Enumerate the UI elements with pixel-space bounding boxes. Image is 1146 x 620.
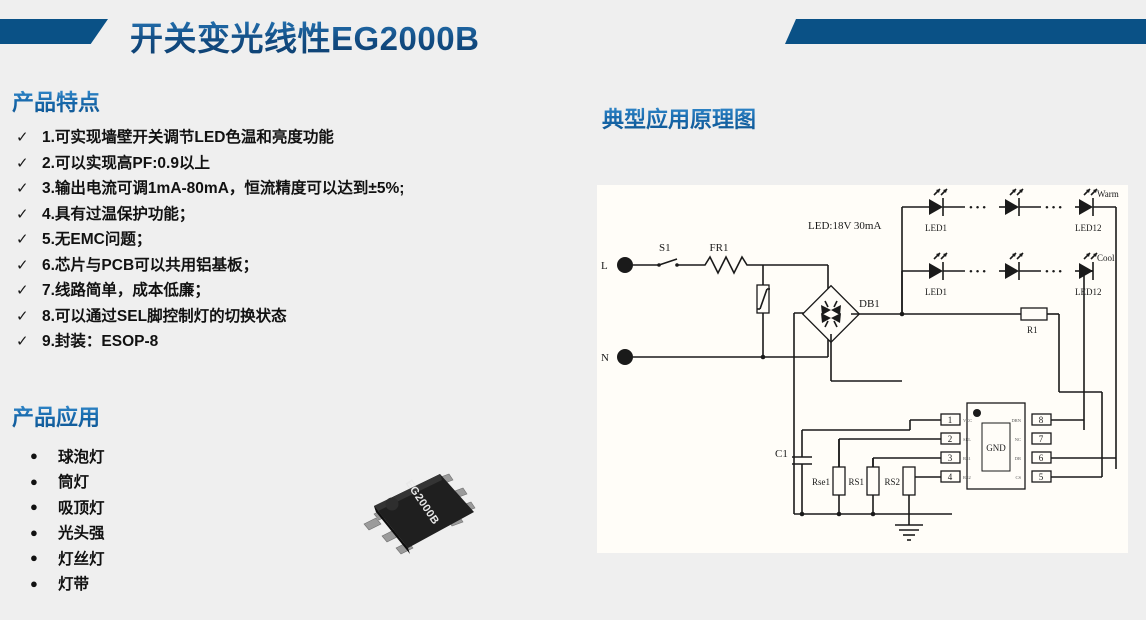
feature-list: ✓ 1.可实现墙壁开关调节LED色温和亮度功能 ✓ 2.可以实现高PF:0.9以… (14, 125, 574, 355)
check-icon: ✓ (14, 179, 42, 197)
resistor-rs2: RS2 (884, 467, 915, 514)
application-item: ● 吸顶灯 (30, 494, 270, 520)
ellipsis-warm-2: • • • (1045, 202, 1062, 214)
header-bar-right-decoration (785, 19, 1146, 44)
ic-pin1-function-label: VCC (963, 418, 972, 423)
feature-item: ✓ 1.可实现墙壁开关调节LED色温和亮度功能 (14, 125, 574, 151)
resistor-rs1-label: RS1 (848, 477, 864, 487)
feature-item: ✓ 7.线路简单，成本低廉； (14, 278, 574, 304)
ellipsis-cool-2: • • • (1045, 266, 1062, 278)
ic-pin-7-number: 7 (1039, 434, 1044, 444)
led-warm-mid (999, 189, 1041, 216)
feature-item-label: 2.可以实现高PF:0.9以上 (42, 151, 210, 173)
ic-pin-3-number: 3 (948, 453, 953, 463)
ellipsis-cool-1: • • • (969, 266, 986, 278)
ic-pin5-function-label: CS (1015, 475, 1021, 480)
feature-item-label: 6.芯片与PCB可以共用铝基板； (42, 253, 258, 275)
resistor-r1-label: R1 (1027, 325, 1038, 335)
feature-item: ✓ 8.可以通过SEL脚控制灯的切换状态 (14, 304, 574, 330)
led-warm-1 (929, 189, 965, 216)
feature-item: ✓ 4.具有过温保护功能； (14, 202, 574, 228)
led-cool-last (1075, 253, 1097, 280)
ic-pin6-function-label: DR (1015, 456, 1021, 461)
application-item: ● 灯带 (30, 571, 270, 597)
varistor-component (757, 265, 770, 359)
application-item-label: 光头强 (58, 521, 105, 543)
application-item-label: 灯丝灯 (58, 547, 105, 569)
ic-pin2-function-label: SEL (963, 437, 971, 442)
resistor-rse1: Rse1 (812, 439, 845, 516)
feature-item-label: 7.线路简单，成本低廉； (42, 278, 210, 300)
schematic-panel: .w { stroke:#1a1a1a; stroke-width:1.6; f… (597, 185, 1128, 553)
application-item: ● 筒灯 (30, 469, 270, 495)
ic-pin8-function-label: DRN (1011, 418, 1021, 423)
feature-item: ✓ 2.可以实现高PF:0.9以上 (14, 151, 574, 177)
feature-item: ✓ 5.无EMC问题； (14, 227, 574, 253)
check-icon: ✓ (14, 154, 42, 172)
page-header: 开关变光线性EG2000B (0, 0, 1146, 68)
section-heading-features: 产品特点 (12, 85, 100, 117)
check-icon: ✓ (14, 230, 42, 248)
ic-pin7-function-label: NC (1015, 437, 1021, 442)
bottom-components: C1 Rse1 RS1 (775, 430, 952, 540)
switch-s1: S1 (657, 242, 695, 267)
schematic-diagram: .w { stroke:#1a1a1a; stroke-width:1.6; f… (597, 185, 1128, 553)
application-item: ● 球泡灯 (30, 443, 270, 469)
ic-pin-2-number: 2 (948, 434, 953, 444)
feature-item-label: 3.输出电流可调1mA-80mA，恒流精度可以达到±5%; (42, 176, 404, 198)
feature-item-label: 8.可以通过SEL脚控制灯的切换状态 (42, 304, 287, 326)
feature-item-label: 5.无EMC问题； (42, 227, 151, 249)
check-icon: ✓ (14, 307, 42, 325)
led-cool-mid (999, 253, 1041, 280)
header-bar-left-decoration (0, 19, 108, 44)
feature-item: ✓ 9.封装：ESOP-8 (14, 329, 574, 355)
ic-pin-5-number: 5 (1039, 472, 1044, 482)
bullet-icon: ● (30, 500, 58, 513)
bullet-icon: ● (30, 551, 58, 564)
led-warm-last-label: LED12 (1075, 223, 1102, 233)
ic-pin1-marker-dot (973, 409, 981, 417)
application-item: ● 光头强 (30, 520, 270, 546)
application-item: ● 灯丝灯 (30, 545, 270, 571)
bullet-icon: ● (30, 577, 58, 590)
check-icon: ✓ (14, 128, 42, 146)
switch-s1-label: S1 (659, 242, 671, 254)
feature-item-label: 4.具有过温保护功能； (42, 202, 194, 224)
ic-pins-right: 8 7 6 5 DRN NC DR CS (1011, 392, 1116, 482)
ellipsis-warm-1: • • • (969, 202, 986, 214)
terminal-live-dot (617, 257, 633, 273)
feature-item: ✓ 3.输出电流可调1mA-80mA，恒流精度可以达到±5%; (14, 176, 574, 202)
bridge-input-wires (763, 265, 828, 445)
feature-item-label: 9.封装：ESOP-8 (42, 329, 158, 351)
led-cool-last-label: LED12 (1075, 287, 1102, 297)
ic-pin3-function-label: RS1 (963, 456, 971, 461)
channel-cool-label: Cool (1097, 253, 1115, 263)
check-icon: ✓ (14, 281, 42, 299)
bullet-icon: ● (30, 475, 58, 488)
resistor-rse1-label: Rse1 (812, 477, 830, 487)
terminal-neutral-dot (617, 349, 633, 365)
ic-center-label: GND (986, 443, 1006, 453)
fuse-resistor-fr1-label: FR1 (710, 242, 729, 254)
ic-pin-4-number: 4 (948, 472, 953, 482)
channel-warm-label: Warm (1097, 189, 1119, 199)
check-icon: ✓ (14, 332, 42, 350)
page-title: 开关变光线性EG2000B (130, 12, 479, 60)
chip-package-photo: EG2000B (352, 462, 482, 567)
terminal-live-label: L (601, 260, 608, 272)
led-cool-first-label: LED1 (925, 287, 947, 297)
ic-pin-1-number: 1 (948, 415, 953, 425)
application-item-label: 筒灯 (58, 470, 89, 492)
led-warm-first-label: LED1 (925, 223, 947, 233)
fuse-resistor-fr1: FR1 (695, 242, 763, 273)
resistor-r1: R1 (902, 308, 1059, 392)
resistor-rs2-label: RS2 (884, 477, 900, 487)
feature-item: ✓ 6.芯片与PCB可以共用铝基板； (14, 253, 574, 279)
bullet-icon: ● (30, 449, 58, 462)
application-item-label: 灯带 (58, 572, 89, 594)
check-icon: ✓ (14, 205, 42, 223)
capacitor-c1-label: C1 (775, 448, 788, 460)
led-spec-note: LED:18V 30mA (808, 220, 881, 232)
ground-symbol (895, 514, 923, 540)
application-list: ● 球泡灯 ● 筒灯 ● 吸顶灯 ● 光头强 ● 灯丝灯 ● 灯带 (30, 443, 270, 596)
application-item-label: 球泡灯 (58, 445, 105, 467)
ac-input-section: L N (601, 257, 763, 365)
section-heading-applications: 产品应用 (12, 400, 100, 432)
bullet-icon: ● (30, 526, 58, 539)
ic-pin4-function-label: RS2 (963, 475, 971, 480)
led-cool-1 (929, 253, 965, 280)
bridge-rectifier-db1: DB1 (803, 286, 902, 381)
resistor-rs1: RS1 (848, 458, 879, 516)
bridge-rectifier-db1-label: DB1 (859, 298, 880, 310)
ic-pin-6-number: 6 (1039, 453, 1044, 463)
check-icon: ✓ (14, 256, 42, 274)
feature-item-label: 1.可实现墙壁开关调节LED色温和亮度功能 (42, 125, 334, 147)
application-item-label: 吸顶灯 (58, 496, 105, 518)
section-heading-schematic: 典型应用原理图 (602, 102, 756, 134)
terminal-neutral-label: N (601, 352, 609, 364)
ic-pin-8-number: 8 (1039, 415, 1044, 425)
